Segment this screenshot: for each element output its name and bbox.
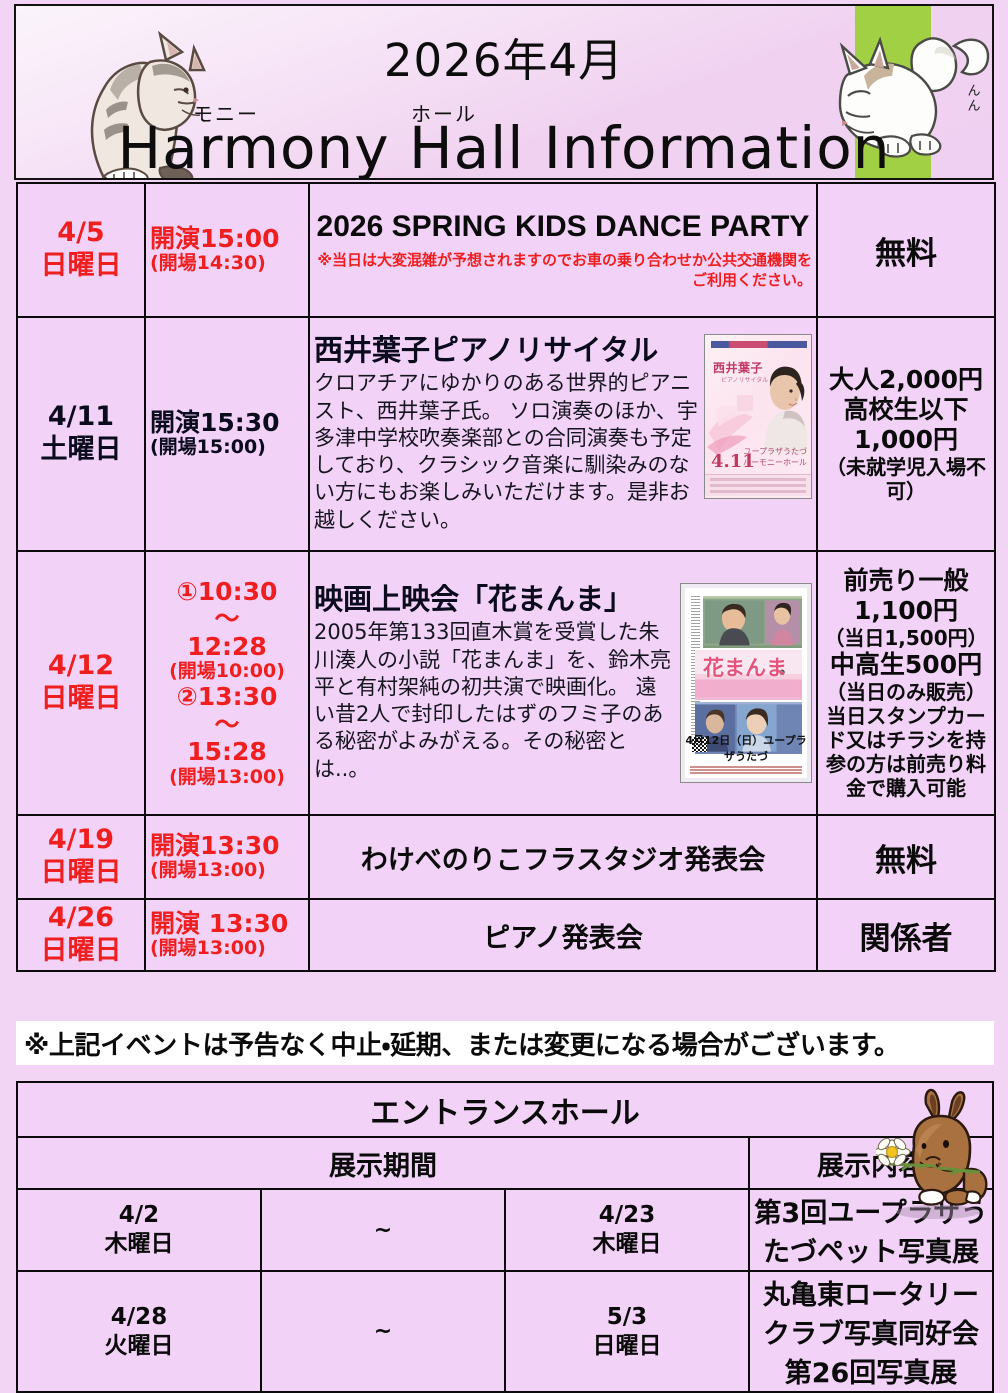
column-header-period: 展示期間 — [17, 1137, 749, 1189]
time-range-dash-2: 〜 — [150, 711, 304, 739]
flyer-artist-name: 西井葉子 — [713, 359, 763, 376]
exhibit-end-date: 5/3 — [507, 1303, 747, 1332]
event-price-note: （未就学児入場不可） — [822, 455, 990, 503]
event-start-time: 開演15:00 — [150, 225, 304, 253]
poster-actors-top — [703, 596, 802, 648]
rabbit-sound-text: んん — [965, 84, 983, 114]
event-note: ※当日は大変混雑が予想されますのでお車の乗り合わせか公共交通機関をご利用ください… — [314, 250, 812, 291]
event-detail-cell: 西井葉子ピアノリサイタル クロアチアにゆかりのある世界的ピアニスト、西井葉子氏。… — [309, 317, 817, 551]
pianist-portrait — [755, 357, 809, 453]
event-open-time: (開場13:00) — [150, 859, 304, 882]
event-title: 2026 SPRING KIDS DANCE PARTY — [314, 210, 812, 245]
event-description: クロアチアにゆかりのある世界的ピアニスト、西井葉子氏。 ソロ演奏のほか、宇多津中… — [314, 370, 698, 534]
event-weekday: 日曜日 — [22, 857, 140, 890]
event-price-advance-label: 前売り一般 — [822, 566, 990, 596]
entrance-hall-table: エントランスホール 展示期間 展示内容 4/2 木曜日 ~ 4/23 木曜日 第… — [16, 1081, 994, 1393]
event-price-student: 1,000円 — [822, 425, 990, 455]
event-date: 4/11 — [22, 401, 140, 434]
event-price-advance: 1,100円 — [822, 596, 990, 626]
entrance-hall-title: エントランスホール — [17, 1082, 993, 1137]
exhibit-start-cell: 4/2 木曜日 — [17, 1189, 261, 1271]
movie-poster-thumbnail: 花まんま — [680, 583, 812, 783]
exhibit-start-cell: 4/28 火曜日 — [17, 1271, 261, 1392]
date-range-separator: ~ — [261, 1271, 505, 1392]
event-price-cell: 関係者 — [817, 899, 995, 971]
table-row: 4/5 日曜日 開演15:00 (開場14:30) 2026 SPRING KI… — [17, 183, 995, 317]
event-weekday: 日曜日 — [22, 683, 140, 716]
rabbit-with-daisy-icon — [876, 1088, 996, 1220]
exhibit-start-date: 4/28 — [19, 1303, 259, 1332]
exhibit-start-date: 4/2 — [19, 1201, 259, 1230]
event-title: 西井葉子ピアノリサイタル — [314, 334, 698, 367]
event-weekday: 土曜日 — [22, 434, 140, 467]
poster-header: 2026年4月 ハーモニー ホール Harmony Hall Informati… — [14, 4, 994, 180]
event-price-stampcard-note: 当日スタンプカード又はチラシを持参の方は前売り料金で購入可能 — [822, 704, 990, 800]
exhibit-end-weekday: 日曜日 — [507, 1332, 747, 1361]
table-row: エントランスホール — [17, 1082, 993, 1137]
date-range-separator: ~ — [261, 1189, 505, 1271]
event-detail-cell: わけべのりこフラスタジオ発表会 — [309, 815, 817, 899]
event-open-time: (開場15:00) — [150, 436, 304, 459]
event-open-time: (開場14:30) — [150, 252, 304, 275]
exhibit-end-cell: 4/23 木曜日 — [505, 1189, 749, 1271]
event-detail-cell: ピアノ発表会 — [309, 899, 817, 971]
page-title: Harmony Hall Information — [16, 114, 992, 180]
event-title: わけべのりこフラスタジオ発表会 — [314, 838, 812, 877]
event-price-cell: 無料 — [817, 815, 995, 899]
table-row: 4/2 木曜日 ~ 4/23 木曜日 第3回ユープラザうたづペット写真展 — [17, 1189, 993, 1271]
flyer-footer — [705, 474, 811, 496]
event-title: 映画上映会「花まんま」 — [314, 583, 674, 616]
event-price-student-label: 高校生以下 — [822, 395, 990, 425]
table-row: 4/19 日曜日 開演13:30 (開場13:00) わけべのりこフラスタジオ発… — [17, 815, 995, 899]
table-row: 4/12 日曜日 ①10:30 〜 12:28 (開場10:00) ②13:30… — [17, 551, 995, 815]
event-price-cell: 大人2,000円 高校生以下 1,000円 （未就学児入場不可） — [817, 317, 995, 551]
flyer-top-band — [711, 341, 807, 348]
event-price-adult: 大人2,000円 — [822, 365, 990, 395]
event-screening1-end: 12:28 — [150, 633, 304, 661]
event-time-cell: ①10:30 〜 12:28 (開場10:00) ②13:30 〜 15:28 … — [145, 551, 309, 815]
table-row: 4/26 日曜日 開演 13:30 (開場13:00) ピアノ発表会 関係者 — [17, 899, 995, 971]
exhibit-end-weekday: 木曜日 — [507, 1230, 747, 1259]
flyer-subtitle: ピアノリサイタル — [721, 375, 768, 384]
event-detail-cell: 映画上映会「花まんま」 2005年第133回直木賞を受賞した朱川湊人の小説「花ま… — [309, 551, 817, 815]
event-weekday: 日曜日 — [22, 250, 140, 283]
piano-recital-flyer-thumbnail: 西井葉子 ピアノリサイタル 4.11 ユープラザうたづ ハーモニーホール — [704, 334, 812, 499]
event-screening2-open: (開場13:00) — [150, 766, 304, 789]
table-row: 展示期間 展示内容 — [17, 1137, 993, 1189]
event-price-student: 中高生500円 — [822, 650, 990, 680]
event-schedule-table: 4/5 日曜日 開演15:00 (開場14:30) 2026 SPRING KI… — [16, 182, 996, 972]
event-date-cell: 4/11 土曜日 — [17, 317, 145, 551]
time-range-dash-1: 〜 — [150, 605, 304, 633]
event-date: 4/19 — [22, 824, 140, 857]
event-price-cell: 前売り一般 1,100円 （当日1,500円） 中高生500円 （当日のみ販売）… — [817, 551, 995, 815]
event-price-door-note: （当日1,500円） — [822, 626, 990, 650]
event-date-cell: 4/12 日曜日 — [17, 551, 145, 815]
exhibit-content: 丸亀東ロータリークラブ写真同好会第26回写真展 — [749, 1271, 993, 1392]
event-date: 4/12 — [22, 650, 140, 683]
event-date-cell: 4/26 日曜日 — [17, 899, 145, 971]
event-screening1-open: (開場10:00) — [150, 660, 304, 683]
event-detail-cell: 2026 SPRING KIDS DANCE PARTY ※当日は大変混雑が予想… — [309, 183, 817, 317]
exhibit-end-date: 4/23 — [507, 1201, 747, 1230]
event-weekday: 日曜日 — [22, 935, 140, 968]
exhibit-start-weekday: 火曜日 — [19, 1332, 259, 1361]
poster-screening-date: 4月12日（日）ユープラザうたづ — [685, 732, 807, 764]
exhibit-end-cell: 5/3 日曜日 — [505, 1271, 749, 1392]
event-start-time: 開演15:30 — [150, 409, 304, 437]
event-title: ピアノ発表会 — [314, 916, 812, 955]
table-row: 4/28 火曜日 ~ 5/3 日曜日 丸亀東ロータリークラブ写真同好会第26回写… — [17, 1271, 993, 1392]
exhibit-start-weekday: 木曜日 — [19, 1230, 259, 1259]
event-price: 関係者 — [822, 913, 990, 958]
event-screening2-end: 15:28 — [150, 738, 304, 766]
table-row: 4/11 土曜日 開演15:30 (開場15:00) 西井葉子ピアノリサイタル … — [17, 317, 995, 551]
event-date: 4/5 — [22, 217, 140, 250]
event-time-cell: 開演13:30 (開場13:00) — [145, 815, 309, 899]
schedule-change-notice: ※上記イベントは予告なく中止・延期、または変更になる場合がございます。 — [16, 1021, 994, 1065]
event-price-cell: 無料 — [817, 183, 995, 317]
event-date: 4/26 — [22, 902, 140, 935]
event-date-cell: 4/19 日曜日 — [17, 815, 145, 899]
event-price-student-note: （当日のみ販売） — [822, 680, 990, 704]
event-price: 無料 — [822, 835, 990, 880]
flyer-venue: ユープラザうたづ ハーモニーホール — [743, 446, 807, 468]
movie-title-logo: 花まんま — [703, 652, 787, 682]
event-description: 2005年第133回直木賞を受賞した朱川湊人の小説「花まんま」を、鈴木亮平と有村… — [314, 619, 674, 783]
poster-footer-text — [690, 765, 802, 775]
event-price: 無料 — [822, 228, 990, 273]
event-start-time: 開演 13:30 — [150, 910, 304, 938]
event-date-cell: 4/5 日曜日 — [17, 183, 145, 317]
event-time-cell: 開演15:30 (開場15:00) — [145, 317, 309, 551]
event-start-time: 開演13:30 — [150, 832, 304, 860]
poster-frame: 花まんま — [685, 588, 807, 778]
event-open-time: (開場13:00) — [150, 937, 304, 960]
event-screening1-start: ①10:30 — [150, 578, 304, 606]
poster-photo-top — [703, 596, 802, 648]
event-time-cell: 開演15:00 (開場14:30) — [145, 183, 309, 317]
event-screening2-start: ②13:30 — [150, 683, 304, 711]
event-time-cell: 開演 13:30 (開場13:00) — [145, 899, 309, 971]
